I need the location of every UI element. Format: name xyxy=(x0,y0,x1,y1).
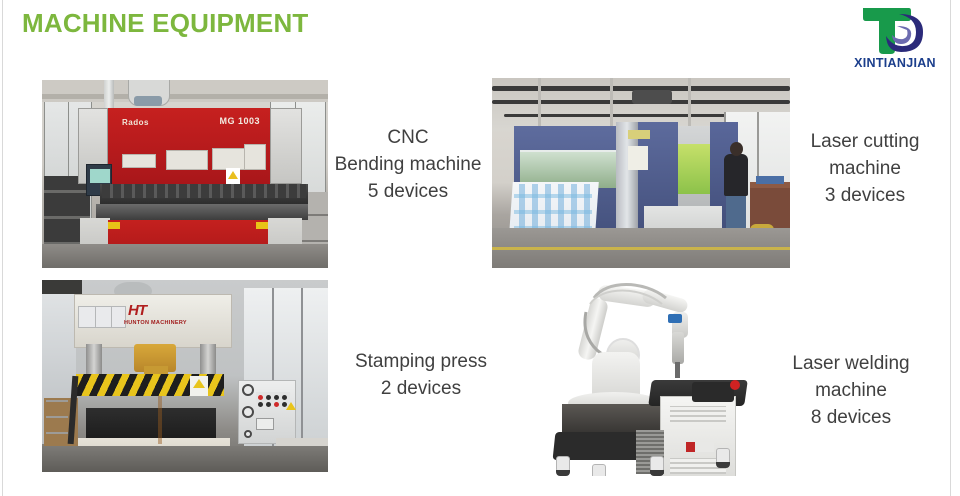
logo-mark-icon xyxy=(859,6,931,56)
caption-line-quantity: 2 devices xyxy=(336,375,506,402)
photo-stamping-press: HT HUNTON MACHINERY xyxy=(42,280,328,472)
caption-line: machine xyxy=(790,155,940,182)
caption-line: machine xyxy=(768,377,934,404)
caption-line: Laser welding xyxy=(768,350,934,377)
welder-touch-panel xyxy=(692,382,734,402)
stamping-press-brand: HUNTON MACHINERY xyxy=(124,320,187,326)
page-title: MACHINE EQUIPMENT xyxy=(22,8,309,39)
hazard-warning-sign-icon xyxy=(190,376,208,396)
caption-line-quantity: 3 devices xyxy=(790,182,940,209)
slide-machine-equipment: MACHINE EQUIPMENT XINTIANJIAN Rados xyxy=(0,0,960,496)
photo-laser-cutting-machine xyxy=(492,78,790,268)
caption-line-quantity: 8 devices xyxy=(768,404,934,431)
caption-line: CNC xyxy=(328,124,488,151)
emergency-stop-button xyxy=(730,380,740,390)
caption-cnc-bending-machine: CNC Bending machine 5 devices xyxy=(328,124,488,205)
company-logo: XINTIANJIAN xyxy=(845,6,945,78)
caption-stamping-press: Stamping press 2 devices xyxy=(336,348,506,402)
photo-laser-welding-machine xyxy=(540,280,760,476)
cnc-machine-model-label: MG 1003 xyxy=(219,116,260,126)
caption-laser-cutting-machine: Laser cutting machine 3 devices xyxy=(790,128,940,209)
cnc-machine-brand: Rados xyxy=(122,118,149,127)
slide-right-border xyxy=(950,0,951,496)
caption-line: Bending machine xyxy=(328,151,488,178)
caption-line-quantity: 5 devices xyxy=(328,178,488,205)
warning-triangle-icon xyxy=(286,402,296,410)
cnc-machine-red-body: Rados MG 1003 xyxy=(108,108,270,186)
caption-laser-welding-machine: Laser welding machine 8 devices xyxy=(768,350,934,431)
caption-line: Stamping press xyxy=(336,348,506,375)
photo-cnc-bending-machine: Rados MG 1003 xyxy=(42,80,328,268)
logo-brand-name: XINTIANJIAN xyxy=(845,56,945,70)
caption-line: Laser cutting xyxy=(790,128,940,155)
slide-left-border xyxy=(2,0,3,496)
stamping-press-logo-text: HT xyxy=(128,302,146,319)
